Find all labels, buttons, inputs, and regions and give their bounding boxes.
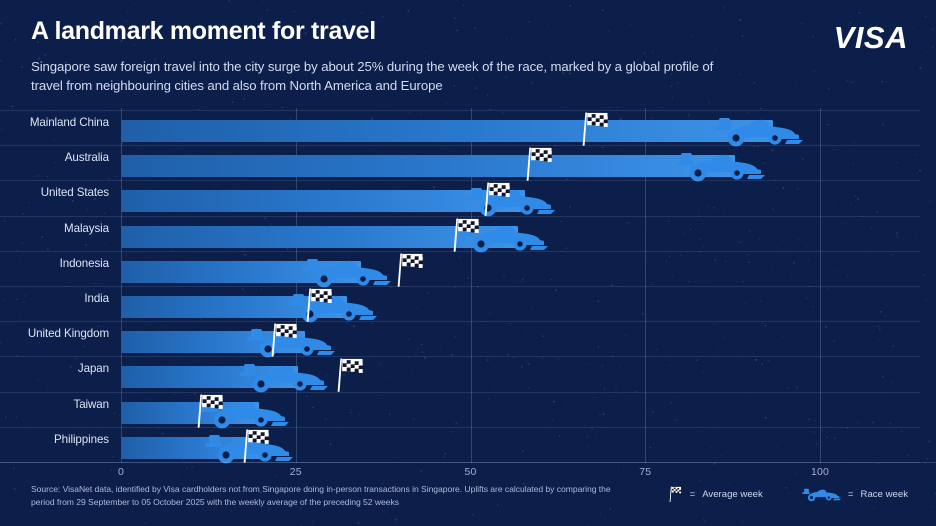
average-week-flag-marker[interactable] — [448, 217, 482, 253]
category-label: Mainland China — [30, 116, 109, 129]
chart-plot: Mainland ChinaAustraliaUnited StatesMala… — [121, 108, 920, 463]
average-week-flag-marker[interactable] — [238, 428, 272, 464]
race-week-car-marker[interactable] — [703, 114, 803, 148]
average-week-flag-marker[interactable] — [266, 322, 300, 358]
average-week-flag-marker[interactable] — [392, 252, 426, 288]
average-week-flag-marker[interactable] — [192, 393, 226, 429]
chart-row[interactable]: United Kingdom — [121, 321, 920, 356]
header: A landmark moment for travel Singapore s… — [31, 18, 791, 95]
race-week-bar[interactable] — [121, 155, 735, 177]
legend-item-race-week[interactable]: =Race week — [797, 487, 908, 502]
category-label: Indonesia — [60, 257, 109, 270]
category-label: India — [84, 292, 109, 305]
legend-label: Race week — [861, 489, 908, 500]
category-label: Japan — [78, 362, 109, 375]
checkered-flag-icon — [577, 111, 611, 148]
category-label: Taiwan — [74, 398, 110, 411]
chart-row[interactable]: Taiwan — [121, 392, 920, 427]
visa-logo: VISA — [834, 20, 908, 56]
race-car-icon — [797, 487, 841, 502]
race-week-car-marker[interactable] — [228, 360, 328, 394]
race-car-icon — [665, 149, 765, 183]
source-note: Source: VisaNet data, identified by Visa… — [31, 483, 611, 510]
chart-row[interactable]: Australia — [121, 145, 920, 180]
race-week-car-marker[interactable] — [291, 255, 391, 289]
legend-equals-sign: = — [690, 489, 696, 500]
chart-row[interactable]: Japan — [121, 356, 920, 391]
chart-row[interactable]: Malaysia — [121, 216, 920, 251]
category-label: Australia — [65, 151, 109, 164]
legend-equals-sign: = — [848, 489, 854, 500]
x-tick-label: 75 — [639, 466, 651, 478]
category-label: United States — [41, 186, 109, 199]
chart-legend: =Average week=Race week — [667, 486, 908, 503]
x-tick-label: 100 — [811, 466, 829, 478]
checkered-flag-icon — [448, 217, 482, 254]
page-subtitle: Singapore saw foreign travel into the ci… — [31, 57, 731, 95]
chart-area: Mainland ChinaAustraliaUnited StatesMala… — [0, 108, 936, 463]
checkered-flag-icon — [392, 252, 426, 289]
category-label: Malaysia — [64, 222, 109, 235]
average-week-flag-marker[interactable] — [479, 181, 513, 217]
legend-item-average-week[interactable]: =Average week — [667, 486, 763, 503]
axis-baseline — [0, 462, 936, 463]
category-label: Philippines — [54, 433, 109, 446]
average-week-flag-marker[interactable] — [301, 287, 335, 323]
x-tick-label: 25 — [290, 466, 302, 478]
checkered-flag-icon — [667, 486, 683, 503]
chart-row[interactable]: Mainland China — [121, 110, 920, 145]
checkered-flag-icon — [266, 322, 300, 359]
race-car-icon — [797, 487, 841, 502]
checkered-flag-icon — [667, 486, 683, 503]
average-week-flag-marker[interactable] — [332, 357, 366, 393]
race-car-icon — [291, 255, 391, 289]
infographic-root: A landmark moment for travel Singapore s… — [0, 0, 936, 526]
checkered-flag-icon — [521, 146, 555, 183]
race-week-bar[interactable] — [121, 120, 773, 142]
x-axis: 0255075100 — [0, 462, 936, 484]
checkered-flag-icon — [332, 357, 366, 394]
chart-row[interactable]: India — [121, 286, 920, 321]
x-tick-label: 50 — [464, 466, 476, 478]
x-tick-label: 0 — [118, 466, 124, 478]
checkered-flag-icon — [301, 287, 335, 324]
average-week-flag-marker[interactable] — [521, 146, 555, 182]
chart-row[interactable]: United States — [121, 180, 920, 215]
chart-row[interactable]: Indonesia — [121, 251, 920, 286]
legend-label: Average week — [702, 489, 763, 500]
category-label: United Kingdom — [28, 327, 109, 340]
race-week-car-marker[interactable] — [665, 149, 765, 183]
checkered-flag-icon — [192, 393, 226, 430]
checkered-flag-icon — [479, 181, 513, 218]
average-week-flag-marker[interactable] — [577, 111, 611, 147]
checkered-flag-icon — [238, 428, 272, 465]
chart-row[interactable]: Philippines — [121, 427, 920, 462]
page-title: A landmark moment for travel — [31, 18, 791, 46]
race-car-icon — [228, 360, 328, 394]
race-car-icon — [703, 114, 803, 148]
